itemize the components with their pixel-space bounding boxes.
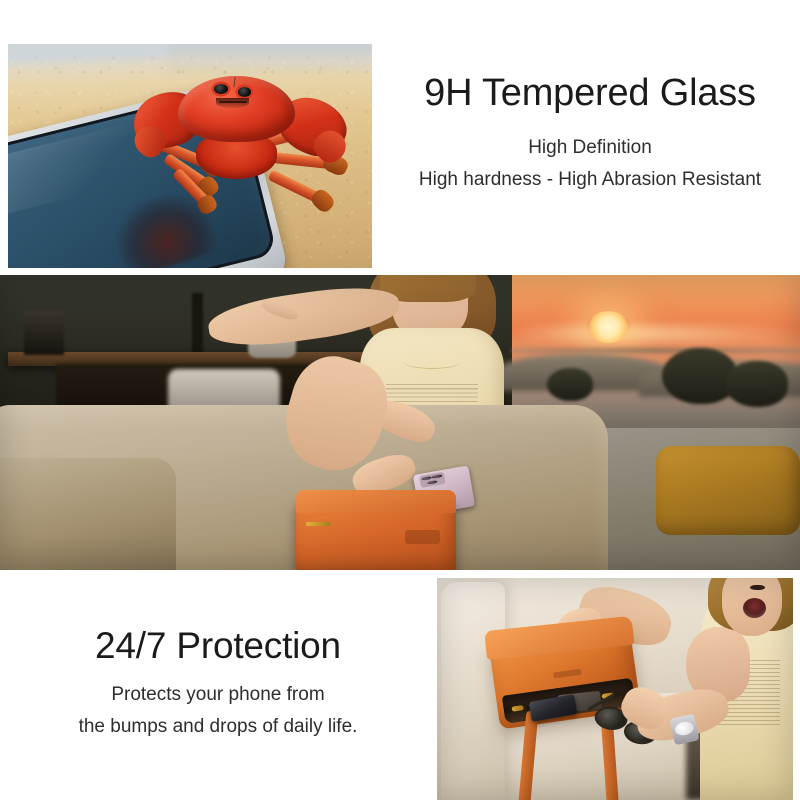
tote-logo-emboss: [553, 669, 582, 679]
protection-headline: 24/7 Protection: [8, 625, 428, 666]
bag-spill-photo: [437, 578, 793, 800]
couch-armrest: [0, 458, 176, 570]
mustard-pillow: [656, 446, 800, 535]
woman-eye: [750, 585, 764, 591]
tree-silhouette: [547, 368, 593, 401]
necklace: [403, 355, 461, 370]
horizon-line: [512, 348, 800, 353]
woman-forearm: [259, 296, 300, 322]
shelf-vase: [24, 310, 64, 354]
sofa-sunset-photo: [0, 275, 800, 570]
crab-eye: [238, 87, 251, 97]
crab-eye: [214, 84, 227, 94]
crab-leg: [268, 170, 327, 206]
handbag-flap: [296, 490, 456, 513]
sofa-scene: [437, 578, 793, 800]
handbag-tag: [405, 530, 440, 544]
tempered-glass-text-block: 9H Tempered Glass High Definition High h…: [386, 70, 794, 220]
wristwatch: [669, 713, 699, 744]
watch-face: [674, 720, 695, 736]
beach-background: [8, 44, 372, 268]
crab-on-phone-photo: [8, 44, 372, 268]
glass-subline-2: High hardness - High Abrasion Resistant: [386, 165, 794, 194]
product-banner: 9H Tempered Glass High Definition High h…: [0, 0, 800, 800]
living-room-scene: [0, 275, 800, 570]
sun-light-streak: [512, 325, 800, 342]
phone-camera-module: [419, 472, 446, 488]
protection-text-block: 24/7 Protection Protects your phone from…: [8, 625, 428, 755]
crab-illustration: [128, 53, 354, 219]
crab-mouth: [216, 98, 249, 108]
handbag-zipper: [306, 522, 332, 526]
tree-silhouette: [725, 361, 788, 407]
setting-sun: [587, 311, 630, 342]
protection-subline-1: Protects your phone from: [8, 680, 428, 709]
glass-headline: 9H Tempered Glass: [386, 72, 794, 115]
glass-subline-1: High Definition: [386, 133, 794, 162]
crab-carapace: [178, 76, 295, 142]
tree-silhouette: [662, 348, 737, 404]
orange-handbag: [296, 499, 456, 570]
protection-subline-2: the bumps and drops of daily life.: [8, 712, 428, 741]
crab-antenna: [234, 77, 236, 87]
